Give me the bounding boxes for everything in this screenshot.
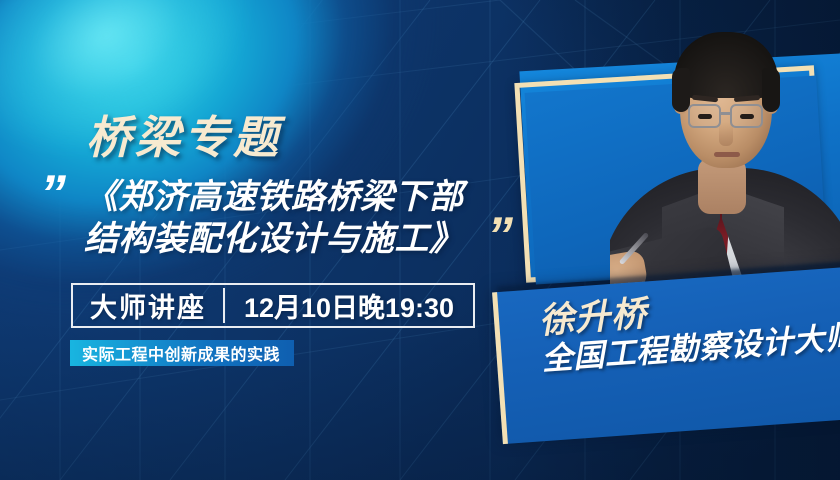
portrait-nose	[719, 122, 733, 146]
subtitle-banner: 实际工程中创新成果的实践	[70, 340, 294, 366]
portrait-hair-side-left	[672, 68, 690, 112]
portrait-eye-left	[698, 114, 712, 119]
lecture-datetime: 12月10日晚19:30	[225, 285, 473, 326]
book-title-line-2: 结构装配化设计与施工》	[84, 218, 514, 260]
book-title-line-1: 《郑济高速铁路桥梁下部	[84, 176, 514, 218]
book-title: 《郑济高速铁路桥梁下部 结构装配化设计与施工》	[84, 176, 514, 260]
portrait-eye-right	[740, 114, 754, 119]
subtitle-text: 实际工程中创新成果的实践	[82, 341, 280, 365]
lecture-info-box: 大师讲座 12月10日晚19:30	[71, 283, 475, 328]
portrait-hair-side-right	[762, 68, 780, 112]
portrait-glasses-bridge	[720, 112, 732, 115]
page-title: 桥梁专题	[86, 101, 282, 166]
quote-open-icon: ”	[40, 168, 64, 220]
quote-close-icon: ”	[487, 210, 511, 262]
lecture-type-label: 大师讲座	[73, 285, 223, 326]
portrait-mouth	[714, 152, 740, 157]
speaker-portrait-image	[610, 8, 840, 298]
lecture-poster: 徐升桥 全国工程勘察设计大师 桥梁专题 ” ” 《郑济高速铁路桥梁下部 结构装配…	[0, 0, 840, 480]
